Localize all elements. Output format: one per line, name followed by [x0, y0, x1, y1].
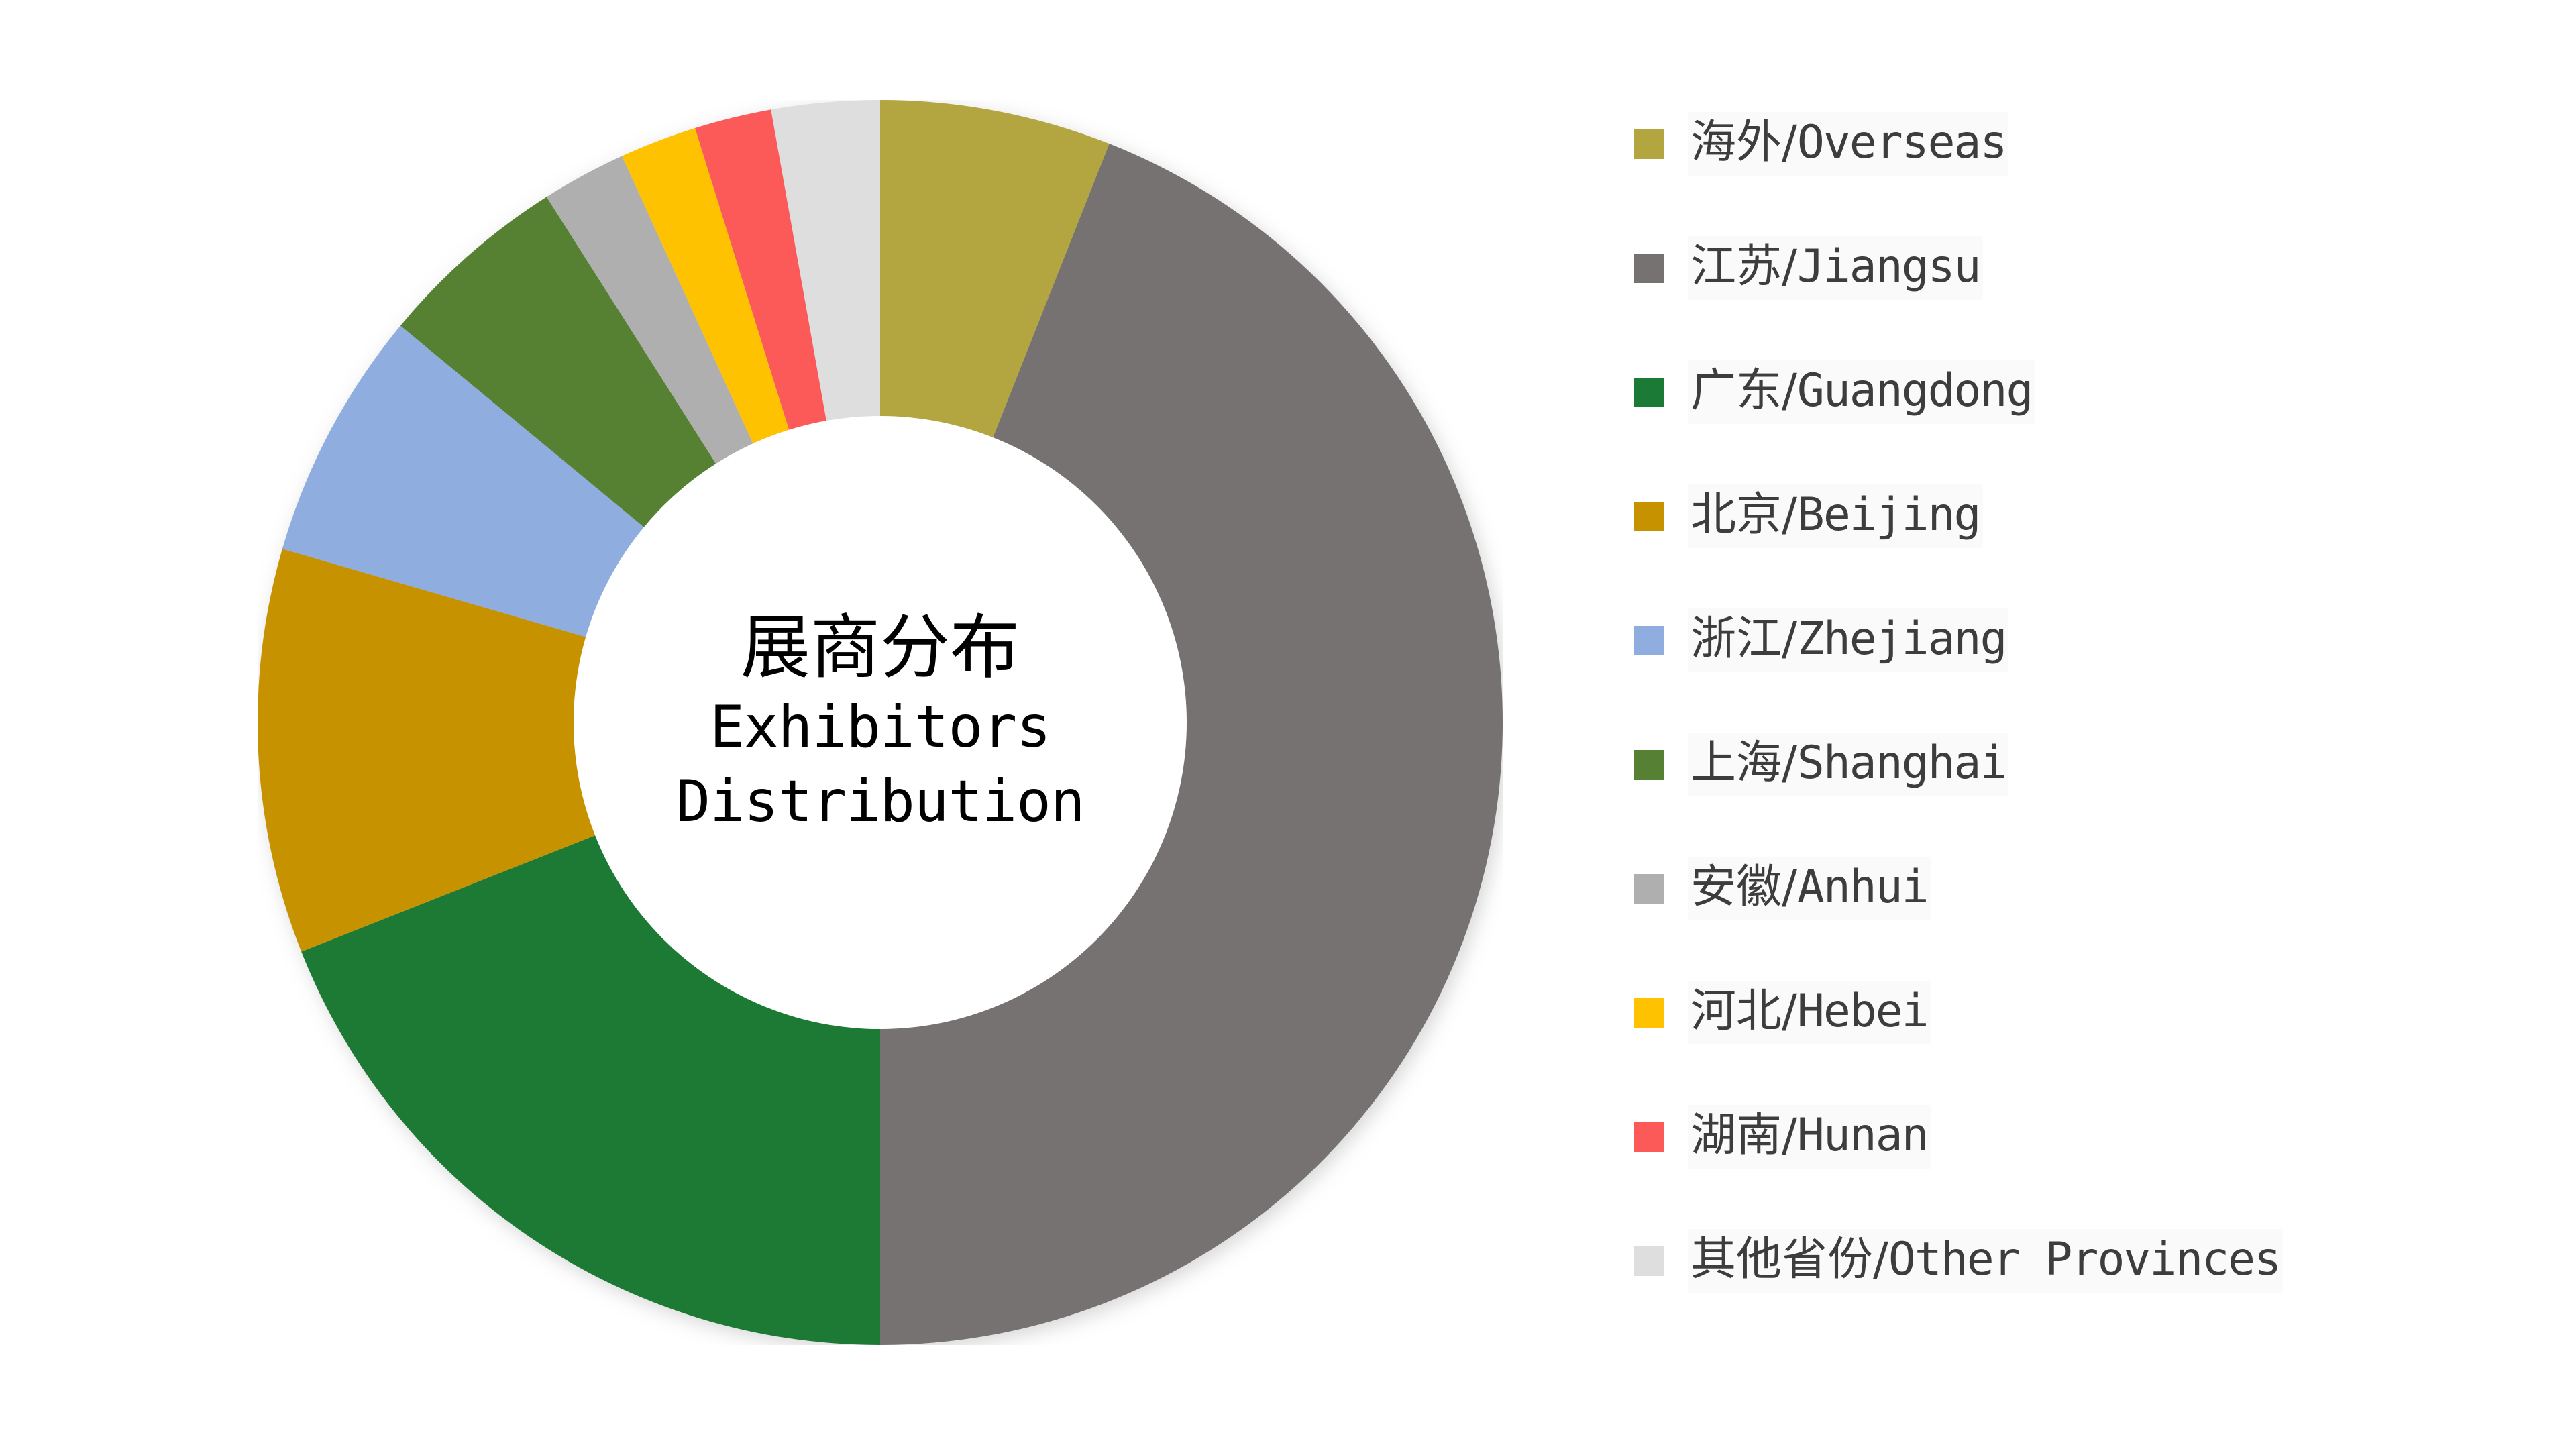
legend-item[interactable]: 上海/Shanghai	[1634, 722, 2533, 806]
legend-label-cn: 其他省份/	[1690, 1233, 1888, 1286]
legend-label-en: Shanghai	[1797, 737, 2006, 790]
legend-label-cn: 浙江/	[1690, 612, 1797, 665]
legend-item-label: 北京/Beijing	[1688, 484, 1983, 548]
donut-chart: 海外/Overseas江苏/Jiangsu广东/Guangdong北京/Beij…	[258, 100, 1503, 1345]
legend-label-en: Overseas	[1797, 116, 2006, 169]
legend-label-en: Zhejiang	[1797, 612, 2006, 665]
legend-swatch-icon	[1634, 129, 1664, 159]
legend-swatch-icon	[1634, 626, 1664, 655]
legend-item-label: 上海/Shanghai	[1688, 733, 2008, 796]
legend-label-cn: 江苏/	[1690, 240, 1797, 293]
legend-item[interactable]: 湖南/Hunan	[1634, 1095, 2533, 1179]
legend-item-label: 海外/Overseas	[1688, 112, 2008, 176]
legend-label-cn: 湖南/	[1690, 1109, 1797, 1162]
legend-item-label: 其他省份/Other Provinces	[1688, 1229, 2283, 1293]
legend-item[interactable]: 海外/Overseas	[1634, 102, 2533, 186]
legend: 海外/Overseas江苏/Jiangsu广东/Guangdong北京/Beij…	[1634, 102, 2533, 1303]
legend-label-cn: 北京/	[1690, 488, 1797, 541]
legend-item[interactable]: 浙江/Zhejiang	[1634, 598, 2533, 682]
legend-item-label: 安徽/Anhui	[1688, 857, 1931, 920]
donut-svg: 海外/Overseas江苏/Jiangsu广东/Guangdong北京/Beij…	[258, 100, 1503, 1345]
legend-label-cn: 上海/	[1690, 737, 1797, 790]
legend-label-en: Hunan	[1797, 1109, 1928, 1162]
legend-item-label: 江苏/Jiangsu	[1688, 236, 1983, 300]
legend-label-cn: 河北/	[1690, 985, 1797, 1038]
legend-label-en: Other Provinces	[1888, 1233, 2280, 1286]
legend-swatch-icon	[1634, 998, 1664, 1028]
legend-swatch-icon	[1634, 1122, 1664, 1152]
legend-swatch-icon	[1634, 1246, 1664, 1276]
legend-label-cn: 海外/	[1690, 116, 1797, 169]
legend-item-label: 广东/Guangdong	[1688, 360, 2035, 424]
legend-item-label: 湖南/Hunan	[1688, 1105, 1931, 1169]
legend-item[interactable]: 广东/Guangdong	[1634, 350, 2533, 434]
chart-figure: 海外/Overseas江苏/Jiangsu广东/Guangdong北京/Beij…	[0, 0, 2576, 1449]
legend-label-en: Jiangsu	[1797, 240, 1980, 293]
legend-label-en: Guangdong	[1797, 364, 2032, 417]
legend-item[interactable]: 河北/Hebei	[1634, 971, 2533, 1055]
legend-item-label: 浙江/Zhejiang	[1688, 608, 2008, 672]
legend-item[interactable]: 其他省份/Other Provinces	[1634, 1219, 2533, 1303]
legend-item[interactable]: 江苏/Jiangsu	[1634, 226, 2533, 310]
legend-swatch-icon	[1634, 502, 1664, 531]
legend-item[interactable]: 北京/Beijing	[1634, 474, 2533, 558]
legend-label-cn: 广东/	[1690, 364, 1797, 417]
legend-item[interactable]: 安徽/Anhui	[1634, 847, 2533, 930]
donut-hole	[574, 416, 1187, 1029]
legend-label-en: Anhui	[1797, 861, 1928, 914]
legend-swatch-icon	[1634, 378, 1664, 407]
legend-label-en: Hebei	[1797, 985, 1928, 1038]
legend-swatch-icon	[1634, 750, 1664, 780]
legend-swatch-icon	[1634, 874, 1664, 904]
legend-item-label: 河北/Hebei	[1688, 981, 1931, 1044]
legend-label-cn: 安徽/	[1690, 861, 1797, 914]
legend-label-en: Beijing	[1797, 488, 1980, 541]
legend-swatch-icon	[1634, 254, 1664, 283]
